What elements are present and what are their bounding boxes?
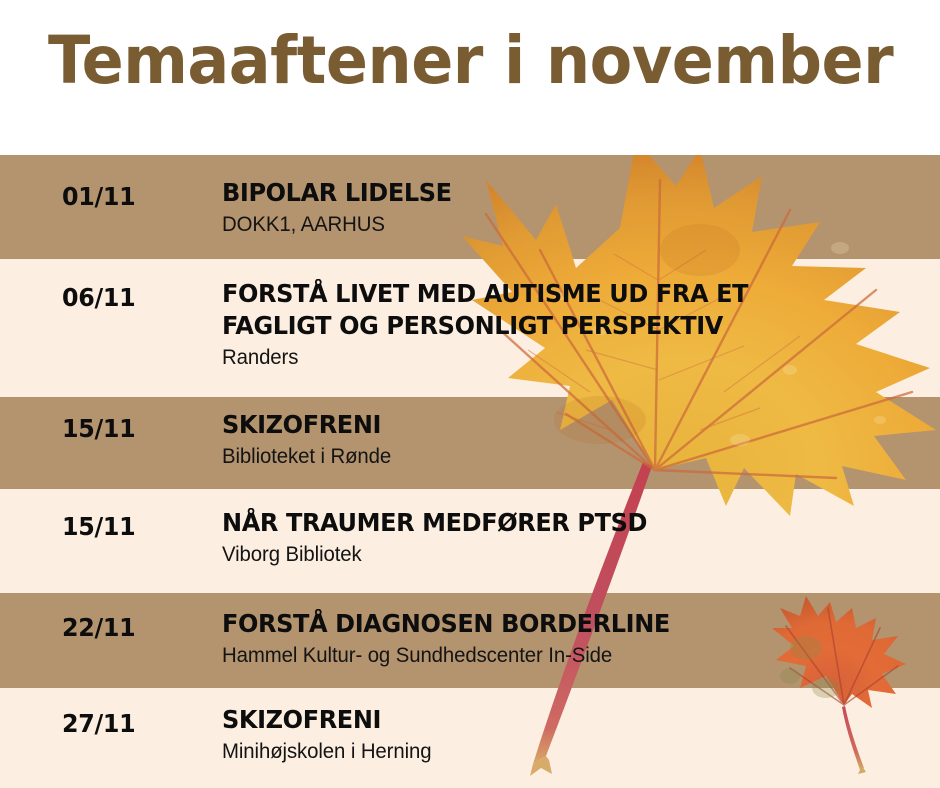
event-row-3[interactable]: 15/11 SKIZOFRENI Biblioteket i Rønde [0, 397, 940, 489]
event-body: FORSTÅ DIAGNOSEN BORDERLINE Hammel Kultu… [222, 608, 920, 669]
event-date: 15/11 [62, 414, 135, 443]
event-date: 22/11 [62, 613, 135, 642]
event-title: SKIZOFRENI [222, 704, 892, 736]
event-title: NÅR TRAUMER MEDFØRER PTSD [222, 507, 892, 539]
event-body: BIPOLAR LIDELSE DOKK1, AARHUS [222, 177, 920, 238]
event-body: FORSTÅ LIVET MED AUTISME UD FRA ET FAGLI… [222, 278, 920, 371]
event-venue: Viborg Bibliotek [222, 541, 899, 568]
event-row-1[interactable]: 01/11 BIPOLAR LIDELSE DOKK1, AARHUS [0, 155, 940, 259]
event-venue: Randers [222, 344, 899, 371]
event-row-6[interactable]: 27/11 SKIZOFRENI Minihøjskolen i Herning [0, 688, 940, 788]
event-date: 15/11 [62, 512, 135, 541]
event-venue: Hammel Kultur- og Sundhedscenter In-Side [222, 642, 899, 669]
event-row-4[interactable]: 15/11 NÅR TRAUMER MEDFØRER PTSD Viborg B… [0, 489, 940, 593]
event-title: SKIZOFRENI [222, 409, 892, 441]
event-body: SKIZOFRENI Biblioteket i Rønde [222, 409, 920, 470]
event-row-2[interactable]: 06/11 FORSTÅ LIVET MED AUTISME UD FRA ET… [0, 259, 940, 397]
event-title: FORSTÅ DIAGNOSEN BORDERLINE [222, 608, 892, 640]
event-venue: DOKK1, AARHUS [222, 211, 899, 238]
event-body: SKIZOFRENI Minihøjskolen i Herning [222, 704, 920, 765]
page-title: Temaaftener i november [48, 26, 893, 95]
poster-canvas: 01/11 BIPOLAR LIDELSE DOKK1, AARHUS 06/1… [0, 0, 940, 788]
event-row-5[interactable]: 22/11 FORSTÅ DIAGNOSEN BORDERLINE Hammel… [0, 593, 940, 688]
event-date: 01/11 [62, 182, 135, 211]
title-band: Temaaftener i november [0, 0, 940, 155]
event-body: NÅR TRAUMER MEDFØRER PTSD Viborg Bibliot… [222, 507, 920, 568]
event-date: 06/11 [62, 283, 135, 312]
event-venue: Biblioteket i Rønde [222, 443, 899, 470]
event-venue: Minihøjskolen i Herning [222, 738, 899, 765]
event-title: FORSTÅ LIVET MED AUTISME UD FRA ET FAGLI… [222, 278, 892, 342]
event-title: BIPOLAR LIDELSE [222, 177, 892, 209]
event-date: 27/11 [62, 709, 135, 738]
